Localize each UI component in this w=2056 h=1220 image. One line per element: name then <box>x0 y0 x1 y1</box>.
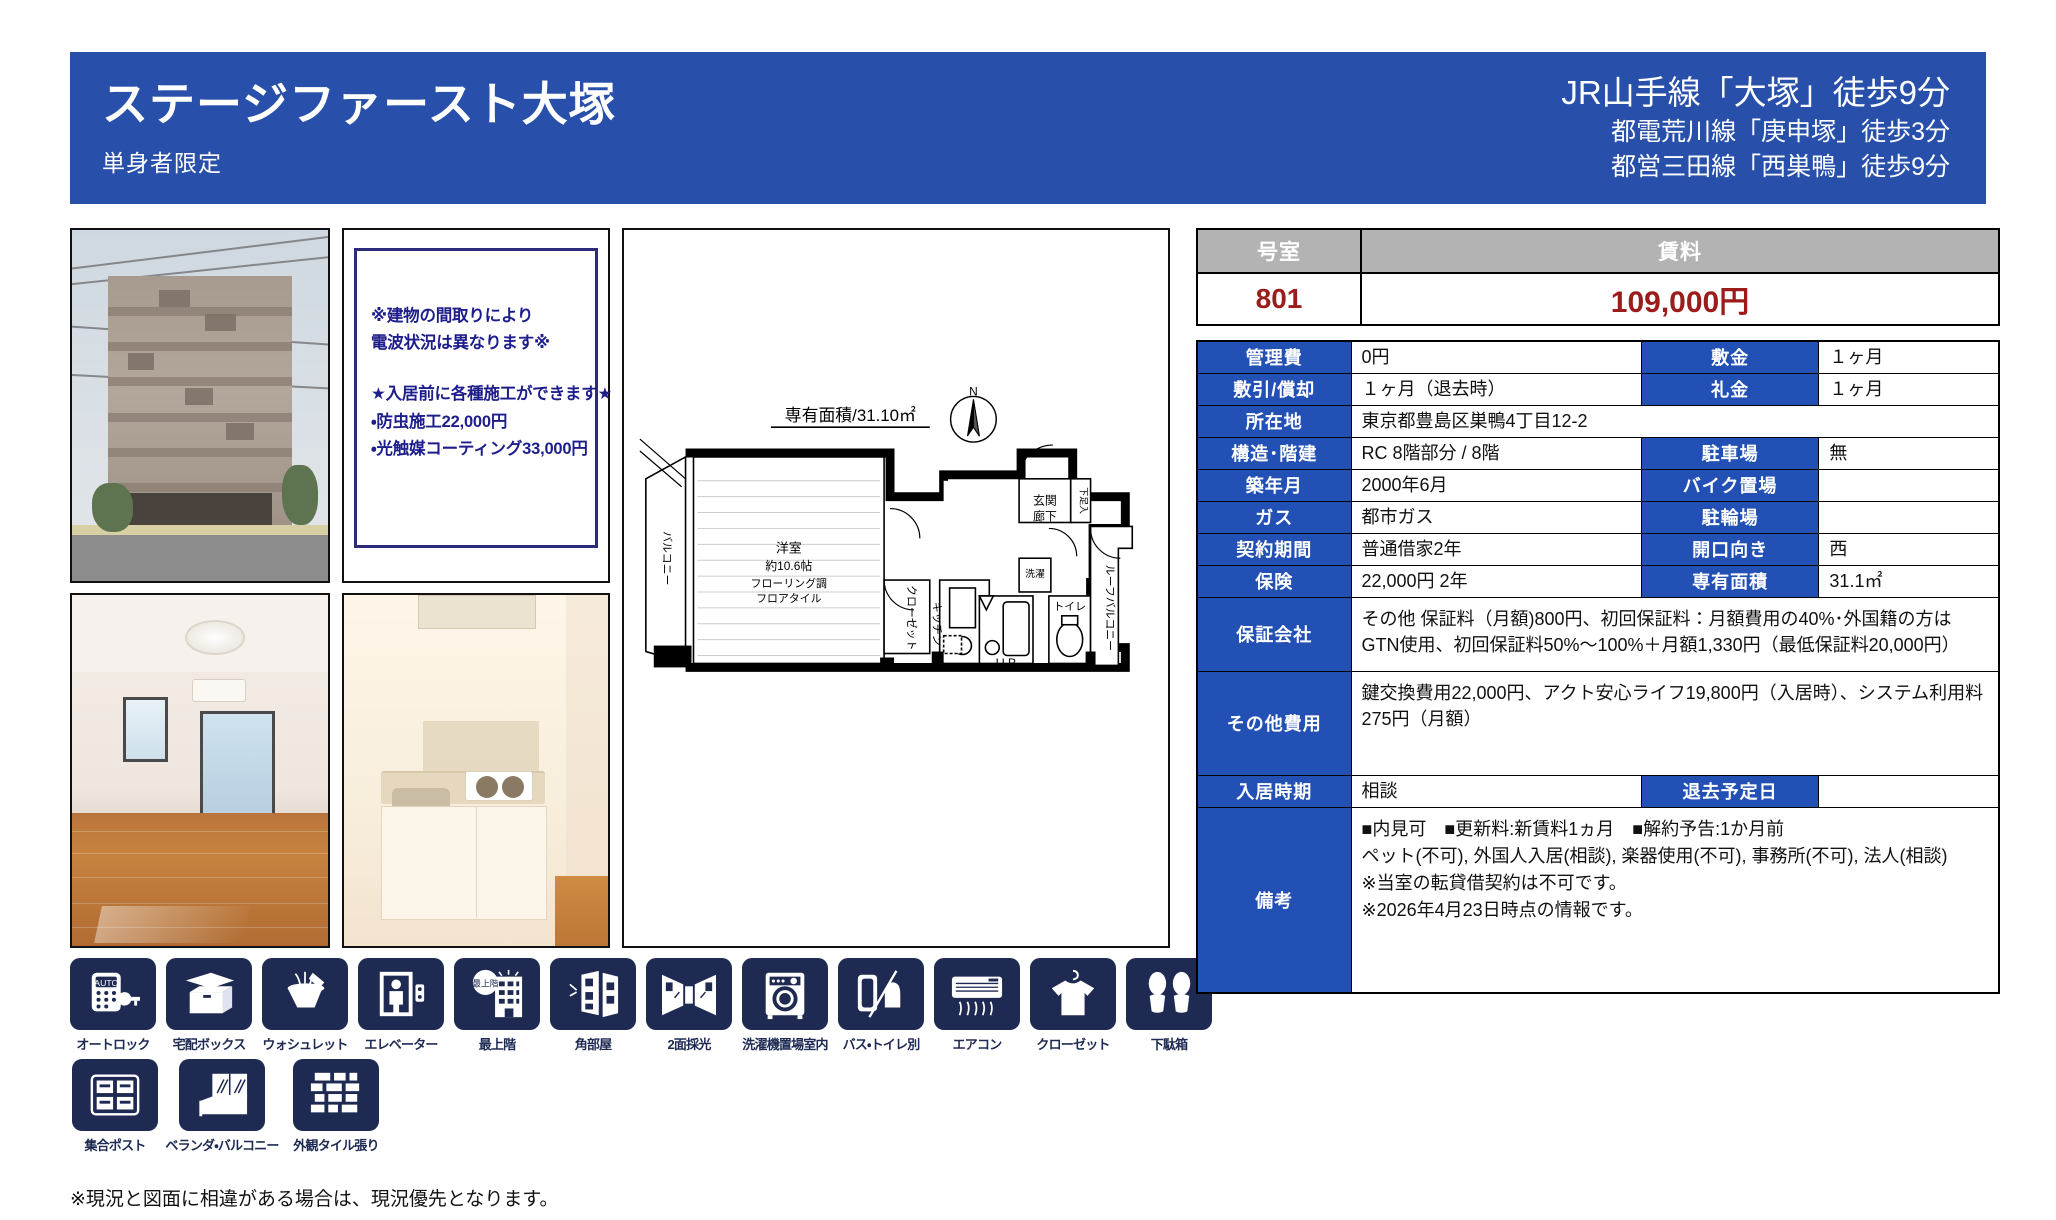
notice-line-1: ※建物の間取りにより <box>371 303 583 330</box>
value-address: 東京都豊島区巣鴨4丁目12-2 <box>1351 405 1999 437</box>
remarks-line-2: ペット(不可), 外国人入居(相談), 楽器使用(不可), 事務所(不可), 法… <box>1362 843 1989 870</box>
amenity-label: 集合ポスト <box>84 1135 145 1154</box>
corner-room-icon <box>550 958 636 1030</box>
fp-label-shoebox: 下足入 <box>1079 487 1089 514</box>
rent-table-value-row: 801 109,000円 <box>1197 273 1999 325</box>
photo-kitchen <box>342 593 610 948</box>
room-number: 801 <box>1197 273 1361 325</box>
value-parking: 無 <box>1819 437 1999 469</box>
auto-lock-icon: AUTO <box>70 958 156 1030</box>
amenity-washlet: ウォシュレット <box>262 958 348 1053</box>
amenity-row-2: 集合ポスト ベランダ・バルコニー 外観タイル張り <box>70 1059 1180 1154</box>
value-management-fee: 0円 <box>1351 341 1641 373</box>
amenity-corner-room: 角部屋 <box>550 958 636 1053</box>
fp-label-finish1: フローリング調 <box>751 576 827 590</box>
label-moveout-date: 退去予定日 <box>1641 775 1819 807</box>
amenity-label: 外観タイル張り <box>293 1135 378 1154</box>
notice-line-2: 電波状況は異なります※ <box>371 330 583 357</box>
fp-label-toilet: トイレ <box>1053 601 1086 613</box>
amenity-label: 2面採光 <box>667 1034 710 1053</box>
label-insurance: 保険 <box>1197 565 1351 597</box>
amenity-elevator: エレベーター <box>358 958 444 1053</box>
fp-label-corridor: 廊下 <box>1033 509 1057 523</box>
fp-label-kitchen: キッチン <box>931 602 944 646</box>
fp-label-entrance: 玄関 <box>1033 494 1057 508</box>
header-left: ステージファースト大塚 単身者限定 <box>102 78 616 179</box>
air-conditioner-icon <box>934 958 1020 1030</box>
value-structure: RC 8階部分 / 8階 <box>1351 437 1641 469</box>
value-remarks: ■内見可 ■更新料:新賃料1ヵ月 ■解約予告:1か月前 ペット(不可), 外国人… <box>1351 807 1999 993</box>
value-floor-area: 31.1㎡ <box>1819 565 1999 597</box>
amenity-row-1: AUTO オートロック 宅配ボックス ウォシュレット <box>70 958 1180 1053</box>
remarks-line-1: ■内見可 ■更新料:新賃料1ヵ月 ■解約予告:1か月前 <box>1362 816 1989 843</box>
label-guarantee-company: 保証会社 <box>1197 597 1351 671</box>
fp-label-balcony: バルコニー <box>661 531 673 585</box>
tile-facade-icon <box>293 1059 379 1131</box>
label-management-fee: 管理費 <box>1197 341 1351 373</box>
exterior-image <box>72 230 328 581</box>
value-built-date: 2000年6月 <box>1351 469 1641 501</box>
row-contract: 契約期間 普通借家2年 開口向き 西 <box>1197 533 1999 565</box>
elevator-icon <box>358 958 444 1030</box>
label-deduction: 敷引/償却 <box>1197 373 1351 405</box>
label-parking: 駐車場 <box>1641 437 1819 469</box>
label-floor-area: 専有面積 <box>1641 565 1819 597</box>
label-address: 所在地 <box>1197 405 1351 437</box>
svg-text:AUTO: AUTO <box>94 978 118 988</box>
amenity-separate-bath-toilet: バス・トイレ別 <box>838 958 924 1053</box>
amenity-air-conditioner: エアコン <box>934 958 1020 1053</box>
station-access-2: 都電荒川線「庚申塚」徒歩3分 <box>1611 116 1950 148</box>
fp-label-room: 洋室 <box>776 540 802 555</box>
amenity-closet: クローゼット <box>1030 958 1116 1053</box>
left-panel: ※建物の間取りにより 電波状況は異なります※ ★入居前に各種施工ができます★ ・… <box>70 228 1170 948</box>
amenity-label: エレベーター <box>364 1034 437 1053</box>
closet-icon <box>1030 958 1116 1030</box>
balcony-icon <box>179 1059 265 1131</box>
amenity-icon-grid: AUTO オートロック 宅配ボックス ウォシュレット <box>70 958 1180 1160</box>
value-deposit: １ヶ月 <box>1819 341 1999 373</box>
label-facing: 開口向き <box>1641 533 1819 565</box>
row-remarks: 備考 ■内見可 ■更新料:新賃料1ヵ月 ■解約予告:1か月前 ペット(不可), … <box>1197 807 1999 993</box>
value-other-fees: 鍵交換費用22,000円、アクト安心ライフ19,800円（入居時）、システム利用… <box>1351 671 1999 775</box>
station-access-3: 都営三田線「西巣鴨」徒歩9分 <box>1611 151 1950 183</box>
label-gas: ガス <box>1197 501 1351 533</box>
delivery-box-icon <box>166 958 252 1030</box>
value-gas: 都市ガス <box>1351 501 1641 533</box>
washlet-icon <box>262 958 348 1030</box>
notice-inner-frame: ※建物の間取りにより 電波状況は異なります※ ★入居前に各種施工ができます★ ・… <box>354 248 598 548</box>
svg-text:最上階: 最上階 <box>472 978 498 988</box>
separate-bath-toilet-icon <box>838 958 924 1030</box>
property-subtitle: 単身者限定 <box>102 144 616 178</box>
row-other-fees: その他費用 鍵交換費用22,000円、アクト安心ライフ19,800円（入居時）、… <box>1197 671 1999 775</box>
maisoku-page: ステージファースト大塚 単身者限定 JR山手線「大塚」徒歩9分 都電荒川線「庚申… <box>0 0 2056 1220</box>
fp-label-room-size: 約10.6帖 <box>765 559 812 573</box>
remarks-line-3: ※当室の転貸借契約は不可です。 <box>1362 870 1989 897</box>
remarks-line-4: ※2026年4月23日時点の情報です。 <box>1362 897 1989 924</box>
amenity-label: 最上階 <box>479 1034 516 1053</box>
photo-living-room <box>70 593 330 948</box>
label-structure: 構造･階建 <box>1197 437 1351 469</box>
fp-label-washer: 洗濯 <box>1025 567 1045 580</box>
value-deduction: １ヶ月（退去時） <box>1351 373 1641 405</box>
value-moveout-date <box>1819 775 1999 807</box>
notice-line-3: ★入居前に各種施工ができます★ <box>371 381 583 408</box>
amenity-label: バス・トイレ別 <box>843 1034 920 1053</box>
floor-plan: 専有面積/31.10㎡ N <box>622 228 1170 948</box>
amenity-delivery-box: 宅配ボックス <box>166 958 252 1053</box>
row-management-fee: 管理費 0円 敷金 １ヶ月 <box>1197 341 1999 373</box>
value-contract-term: 普通借家2年 <box>1351 533 1641 565</box>
plan-disclaimer: ※現況と図面に相違がある場合は、現況優先となります。 <box>70 1184 558 1211</box>
photo-exterior <box>70 228 330 583</box>
amenity-tile-facade: 外観タイル張り <box>284 1059 388 1154</box>
row-structure: 構造･階建 RC 8階部分 / 8階 駐車場 無 <box>1197 437 1999 469</box>
value-guarantee-company: その他 保証料（月額)800円、初回保証料：月額費用の40%･外国籍の方はGTN… <box>1351 597 1999 671</box>
label-built-date: 築年月 <box>1197 469 1351 501</box>
amenity-label: 洗濯機置場室内 <box>742 1034 827 1053</box>
indoor-washer-icon <box>742 958 828 1030</box>
rent-amount: 109,000円 <box>1361 273 1999 325</box>
notice-line-4: ・防虫施工22,000円 <box>371 409 583 436</box>
row-gas: ガス 都市ガス 駐輪場 <box>1197 501 1999 533</box>
value-insurance: 22,000円 2年 <box>1351 565 1641 597</box>
rent-table: 号室 賃料 801 109,000円 <box>1196 228 2000 326</box>
row-address: 所在地 東京都豊島区巣鴨4丁目12-2 <box>1197 405 1999 437</box>
mailbox-icon <box>72 1059 158 1131</box>
value-cycle-parking <box>1819 501 1999 533</box>
value-facing: 西 <box>1819 533 1999 565</box>
label-contract-term: 契約期間 <box>1197 533 1351 565</box>
kitchen-image <box>344 595 608 946</box>
fp-label-finish2: フロアタイル <box>756 592 822 605</box>
amenity-auto-lock: AUTO オートロック <box>70 958 156 1053</box>
label-cycle-parking: 駐輪場 <box>1641 501 1819 533</box>
row-guarantee: 保証会社 その他 保証料（月額)800円、初回保証料：月額費用の40%･外国籍の… <box>1197 597 1999 671</box>
compass-north-label: N <box>969 384 978 398</box>
rent-header-rent: 賃料 <box>1361 229 1999 273</box>
amenity-mailbox: 集合ポスト <box>70 1059 160 1154</box>
amenity-label: 宅配ボックス <box>173 1034 246 1053</box>
value-key-money: １ヶ月 <box>1819 373 1999 405</box>
top-floor-icon: 最上階 <box>454 958 540 1030</box>
amenity-label: オートロック <box>76 1034 149 1053</box>
notice-line-5: ・光触媒コーティング33,000円 <box>371 436 583 463</box>
right-panel: 号室 賃料 801 109,000円 管理費 0円 敷金 １ヶ月 敷引/償却 １… <box>1196 228 2000 994</box>
page-title: ステージファースト大塚 <box>102 78 616 131</box>
amenity-label: 角部屋 <box>575 1034 612 1053</box>
amenity-two-side-light: 2面採光 <box>646 958 732 1053</box>
label-key-money: 礼金 <box>1641 373 1819 405</box>
label-bike-parking: バイク置場 <box>1641 469 1819 501</box>
row-built: 築年月 2000年6月 バイク置場 <box>1197 469 1999 501</box>
label-movein-date: 入居時期 <box>1197 775 1351 807</box>
station-access-list: JR山手線「大塚」徒歩9分 都電荒川線「庚申塚」徒歩3分 都営三田線「西巣鴨」徒… <box>1561 73 1950 183</box>
property-header: ステージファースト大塚 単身者限定 JR山手線「大塚」徒歩9分 都電荒川線「庚申… <box>70 52 1986 204</box>
value-bike-parking <box>1819 469 1999 501</box>
label-deposit: 敷金 <box>1641 341 1819 373</box>
row-movein: 入居時期 相談 退去予定日 <box>1197 775 1999 807</box>
amenity-label: クローゼット <box>1036 1034 1109 1053</box>
value-movein-date: 相談 <box>1351 775 1641 807</box>
property-detail-table: 管理費 0円 敷金 １ヶ月 敷引/償却 １ヶ月（退去時） 礼金 １ヶ月 所在地 … <box>1196 340 2000 994</box>
row-deduction: 敷引/償却 １ヶ月（退去時） 礼金 １ヶ月 <box>1197 373 1999 405</box>
rent-header-room: 号室 <box>1197 229 1361 273</box>
fp-label-ub: ＵＢ <box>994 656 1018 670</box>
floor-plan-drawing: 専有面積/31.10㎡ N <box>624 230 1168 946</box>
notice-box: ※建物の間取りにより 電波状況は異なります※ ★入居前に各種施工ができます★ ・… <box>342 228 610 583</box>
label-other-fees: その他費用 <box>1197 671 1351 775</box>
living-room-image <box>72 595 328 946</box>
floor-plan-area-label: 専有面積/31.10㎡ <box>785 406 916 425</box>
amenity-label: 下駄箱 <box>1151 1034 1188 1053</box>
row-insurance: 保険 22,000円 2年 専有面積 31.1㎡ <box>1197 565 1999 597</box>
amenity-label: ウォシュレット <box>262 1034 347 1053</box>
fp-label-closet: クローゼット <box>905 585 918 650</box>
amenity-indoor-washer: 洗濯機置場室内 <box>742 958 828 1053</box>
amenity-top-floor: 最上階 最上階 <box>454 958 540 1053</box>
amenity-label: エアコン <box>953 1034 1002 1053</box>
fp-label-roof-balcony: ルーフバルコニー <box>1103 565 1115 651</box>
rent-table-header-row: 号室 賃料 <box>1197 229 1999 273</box>
amenity-label: ベランダ・バルコニー <box>165 1135 278 1154</box>
label-remarks: 備考 <box>1197 807 1351 993</box>
station-access-1: JR山手線「大塚」徒歩9分 <box>1561 73 1950 113</box>
amenity-balcony: ベランダ・バルコニー <box>170 1059 274 1154</box>
two-side-light-icon <box>646 958 732 1030</box>
